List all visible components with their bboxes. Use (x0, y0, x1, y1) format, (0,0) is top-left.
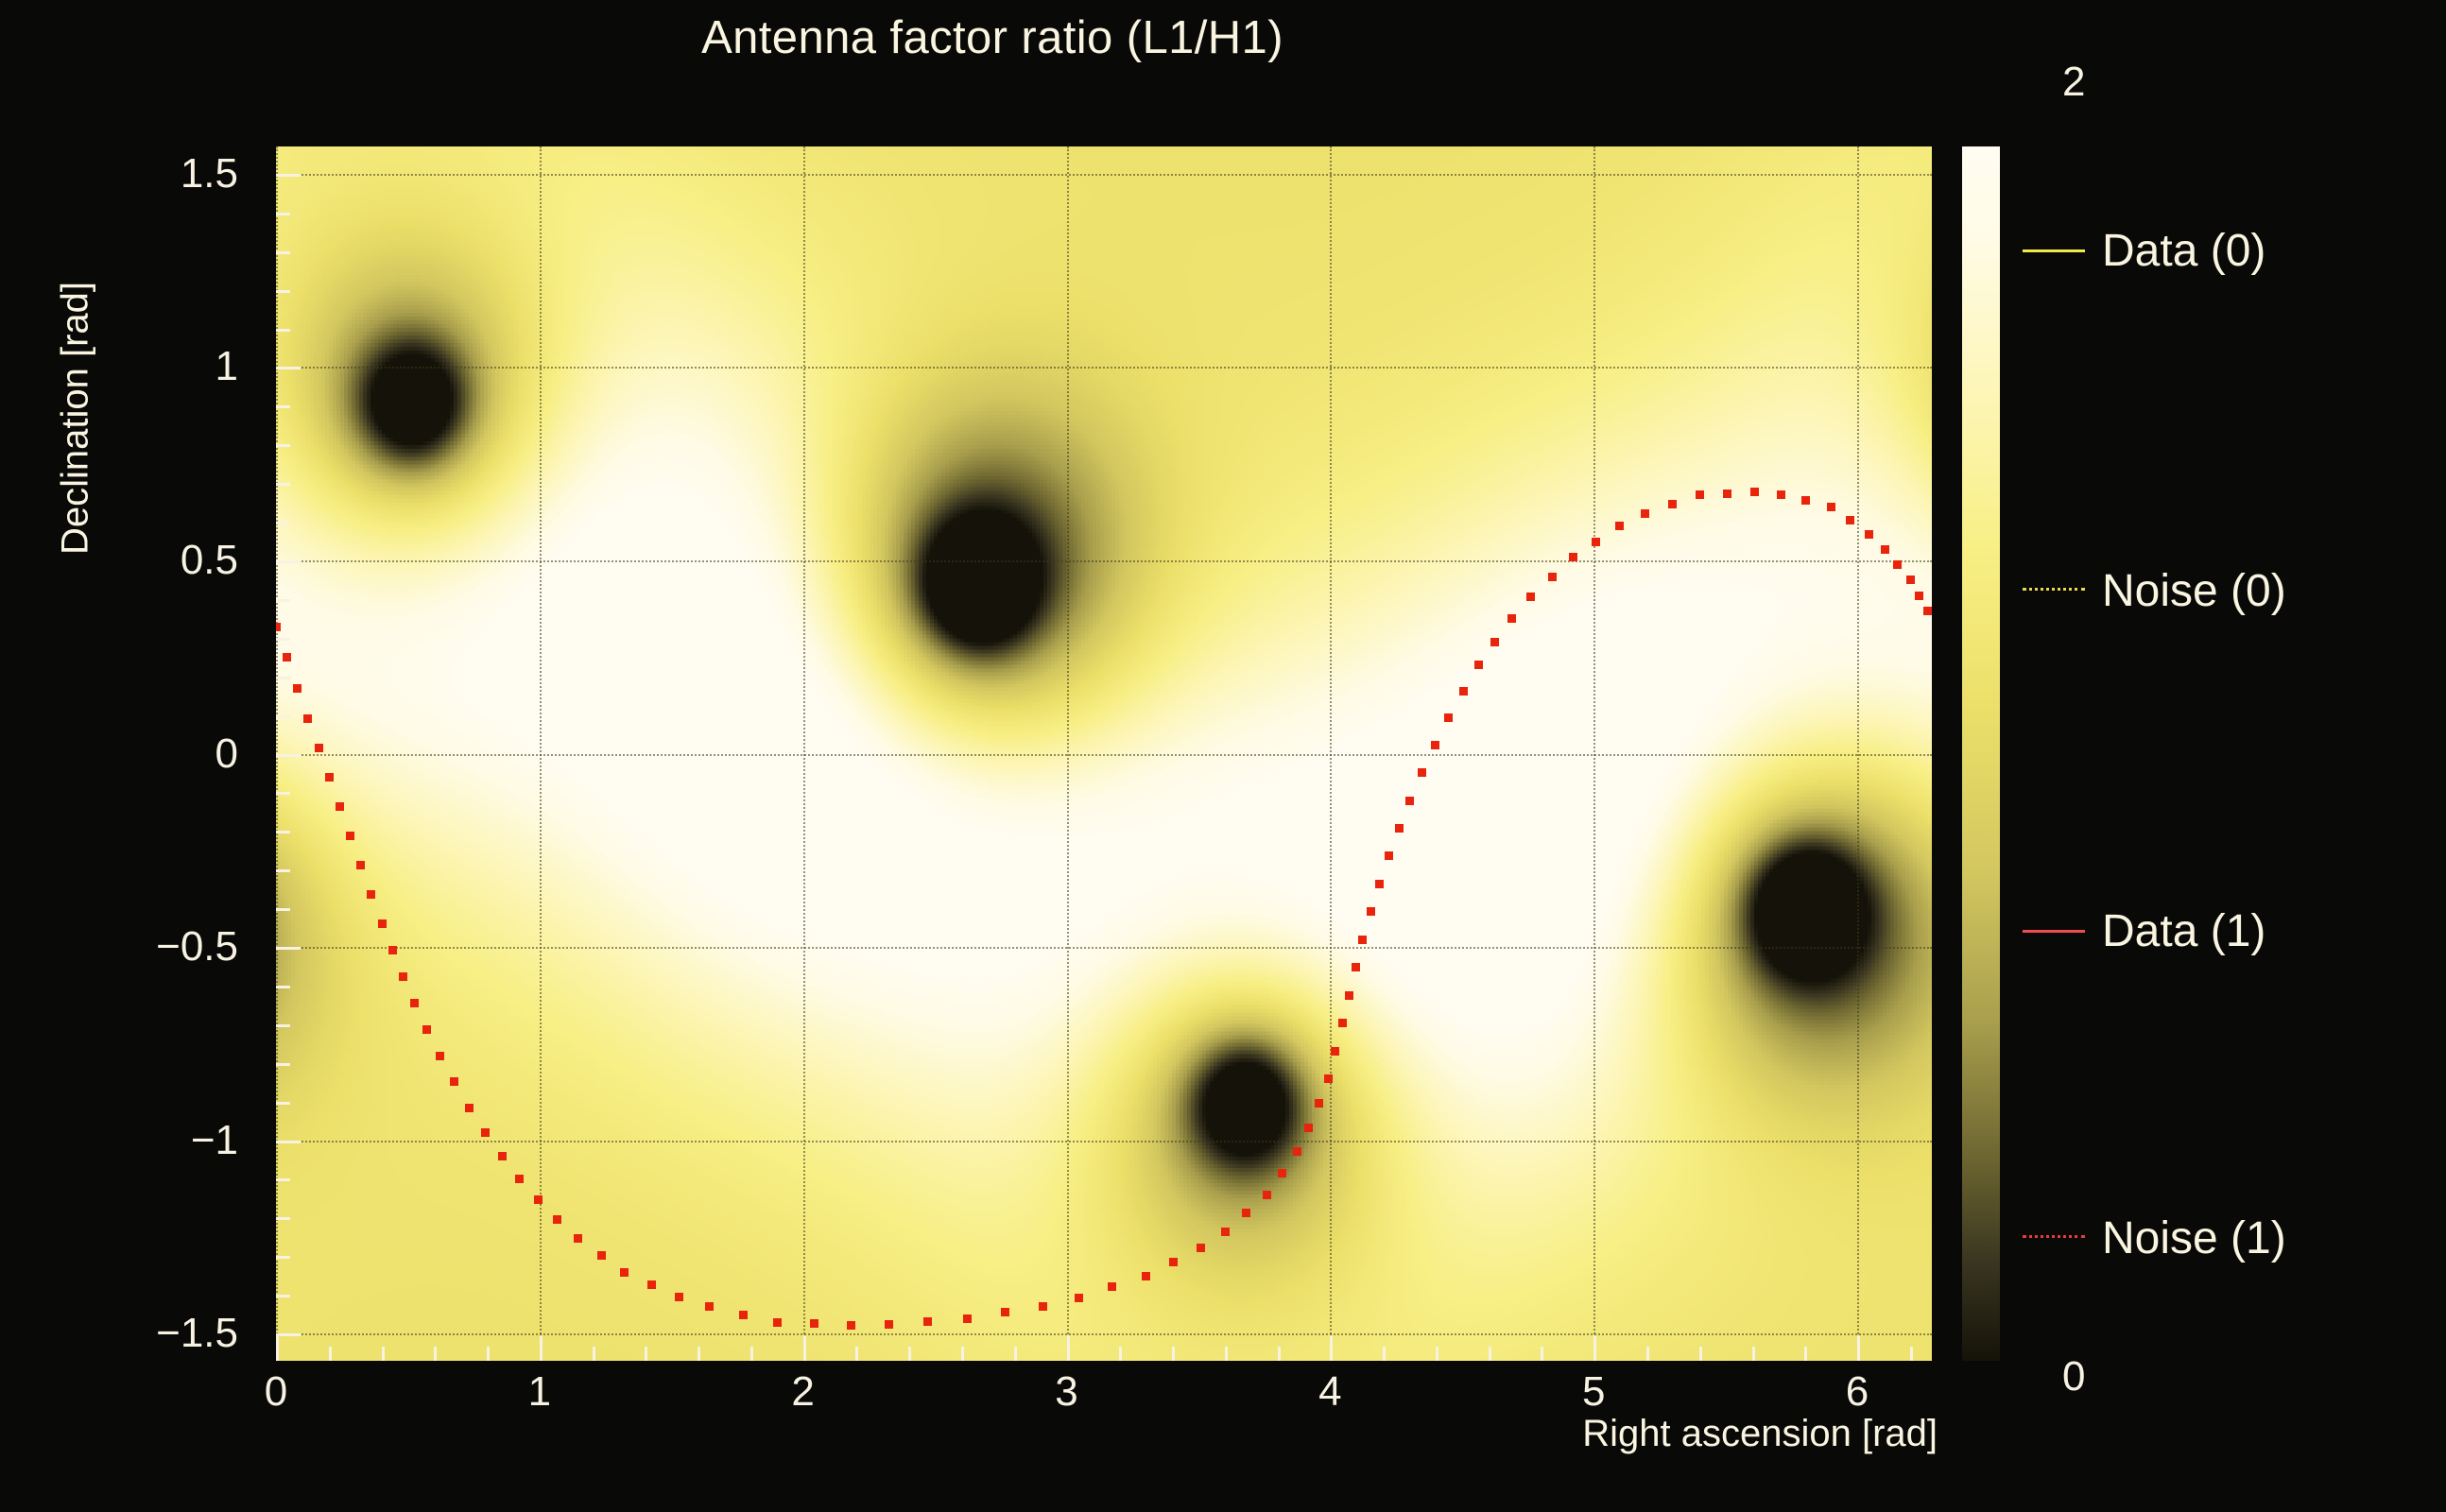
x-tick-minor (1541, 1347, 1543, 1361)
curve-marker (1750, 488, 1759, 496)
curve-marker (1395, 824, 1404, 833)
y-tick-minor (276, 792, 290, 795)
legend-line-swatch (2023, 249, 2085, 252)
y-tick-minor (276, 290, 290, 293)
y-tick-major (276, 367, 301, 369)
curve-marker (847, 1321, 855, 1330)
x-tick-minor (908, 1347, 911, 1361)
curve-marker (450, 1077, 458, 1086)
x-tick-minor (1646, 1347, 1649, 1361)
curve-marker (1278, 1169, 1286, 1177)
legend-item-label: Data (1) (2102, 905, 2265, 957)
y-tick-minor (276, 329, 290, 332)
x-tick-minor (1278, 1347, 1281, 1361)
curve-marker (1592, 538, 1600, 546)
curve-marker (1893, 560, 1902, 569)
curve-marker (1039, 1302, 1047, 1311)
curve-marker (1507, 614, 1516, 623)
x-tick-label: 5 (1582, 1368, 1605, 1416)
y-tick-label: −0.5 (156, 923, 238, 971)
curve-marker (773, 1318, 782, 1327)
x-tick-major (1067, 1336, 1070, 1361)
curve-marker (388, 946, 397, 954)
y-axis-tick-labels: 1.510.50−0.5−1−1.5 (0, 146, 255, 1361)
x-tick-minor (1119, 1347, 1122, 1361)
x-tick-minor (855, 1347, 858, 1361)
y-tick-minor (276, 1295, 290, 1297)
curve-marker (1881, 545, 1889, 554)
y-tick-minor (276, 638, 290, 641)
curve-marker (1263, 1191, 1271, 1199)
x-tick-major (276, 1336, 279, 1361)
legend-item[interactable]: Noise (0) (2023, 558, 2438, 624)
curve-marker (346, 832, 354, 840)
curve-marker (1801, 496, 1810, 505)
curve-marker (553, 1215, 561, 1224)
heatmap-image (276, 146, 1932, 1361)
curve-marker (315, 744, 323, 752)
x-tick-minor (698, 1347, 700, 1361)
x-tick-major (1330, 1336, 1333, 1361)
curve-marker (963, 1314, 972, 1323)
x-tick-minor (593, 1347, 595, 1361)
curve-marker (336, 802, 344, 811)
x-tick-minor (1436, 1347, 1438, 1361)
x-tick-minor (1489, 1347, 1491, 1361)
x-tick-minor (750, 1347, 753, 1361)
x-tick-label: 2 (791, 1368, 814, 1416)
x-tick-minor (1804, 1347, 1807, 1361)
y-tick-minor (276, 869, 290, 872)
x-tick-major (540, 1336, 543, 1361)
x-tick-minor (329, 1347, 332, 1361)
curve-marker (1345, 991, 1353, 1000)
x-tick-minor (487, 1347, 490, 1361)
y-tick-label: 1 (215, 343, 238, 390)
legend-line-swatch (2023, 1235, 2085, 1242)
x-tick-label: 4 (1318, 1368, 1341, 1416)
y-tick-label: 0.5 (181, 537, 238, 584)
y-tick-label: 0 (215, 730, 238, 778)
x-tick-major (1857, 1336, 1860, 1361)
y-tick-minor (276, 1217, 290, 1220)
y-tick-minor (276, 831, 290, 833)
curve-marker (1865, 530, 1873, 539)
y-tick-minor (276, 522, 290, 524)
curve-marker (1001, 1308, 1009, 1316)
x-tick-minor (1383, 1347, 1386, 1361)
y-tick-label: 1.5 (181, 150, 238, 198)
y-tick-minor (276, 405, 290, 408)
legend-item[interactable]: Data (1) (2023, 898, 2438, 964)
x-tick-label: 0 (265, 1368, 287, 1416)
x-tick-minor (434, 1347, 437, 1361)
y-tick-minor (276, 908, 290, 911)
curve-marker (1293, 1147, 1301, 1156)
curve-marker (367, 890, 375, 899)
curve-marker (1915, 592, 1923, 600)
x-tick-minor (645, 1347, 647, 1361)
curve-marker (283, 653, 291, 661)
curve-marker (885, 1320, 893, 1329)
curve-marker (1367, 907, 1375, 916)
curve-marker (1324, 1074, 1333, 1083)
curve-marker (325, 773, 334, 782)
x-axis-tick-labels: 0123456 (276, 1368, 1932, 1425)
curve-marker (465, 1104, 474, 1112)
x-tick-label: 1 (528, 1368, 551, 1416)
curve-marker (1169, 1258, 1178, 1266)
x-tick-minor (961, 1347, 964, 1361)
legend-line-swatch (2023, 588, 2085, 594)
legend-item[interactable]: Data (0) (2023, 217, 2438, 283)
y-tick-major (276, 947, 301, 950)
y-tick-major (276, 754, 301, 757)
x-tick-label: 6 (1846, 1368, 1869, 1416)
chart-title: Antenna factor ratio (L1/H1) (0, 11, 1985, 64)
legend-item-label: Data (0) (2102, 225, 2265, 277)
curve-marker (410, 999, 419, 1007)
curve-marker (597, 1251, 606, 1260)
y-tick-minor (276, 986, 290, 988)
y-tick-major (276, 1141, 301, 1143)
y-tick-major (276, 1333, 301, 1336)
y-tick-minor (276, 1024, 290, 1027)
curve-marker (1906, 576, 1915, 584)
heatmap-plot-area[interactable] (276, 146, 1932, 1361)
curve-marker (1641, 509, 1649, 518)
curve-marker (620, 1268, 629, 1277)
curve-marker (1490, 638, 1499, 646)
legend-line-swatch (2023, 930, 2085, 933)
x-tick-label: 3 (1055, 1368, 1077, 1416)
curve-marker (1221, 1228, 1230, 1236)
curve-marker (534, 1195, 543, 1204)
curve-marker (436, 1052, 444, 1060)
curve-marker (1405, 797, 1414, 805)
x-tick-minor (1910, 1347, 1913, 1361)
curve-marker (1923, 607, 1932, 615)
curve-marker (276, 623, 281, 631)
curve-marker (498, 1152, 507, 1160)
curve-marker (923, 1317, 932, 1326)
y-tick-minor (276, 483, 290, 486)
legend: Data (0)Noise (0)Data (1)Noise (1) (2023, 217, 2438, 1276)
curve-marker (1418, 768, 1426, 777)
curve-marker (739, 1311, 748, 1319)
y-tick-minor (276, 677, 290, 679)
curve-marker (810, 1319, 818, 1328)
curve-marker (356, 861, 365, 869)
y-tick-major (276, 560, 301, 563)
legend-item-label: Noise (1) (2102, 1212, 2286, 1264)
y-tick-minor (276, 599, 290, 602)
x-tick-minor (1014, 1347, 1017, 1361)
x-tick-major (1593, 1336, 1596, 1361)
curve-marker (1668, 500, 1677, 508)
y-tick-minor (276, 213, 290, 215)
curve-marker (1197, 1244, 1205, 1252)
colorbar-min-label: 0 (2062, 1353, 2085, 1400)
y-tick-minor (276, 1063, 290, 1066)
y-tick-minor (276, 1178, 290, 1181)
curve-marker (293, 684, 301, 693)
curve-marker (1569, 553, 1577, 561)
curve-marker (705, 1302, 714, 1311)
curve-marker (1352, 963, 1360, 971)
y-tick-minor (276, 715, 290, 718)
legend-item[interactable]: Noise (1) (2023, 1205, 2438, 1271)
x-tick-minor (382, 1347, 385, 1361)
curve-marker (1615, 522, 1624, 530)
curve-marker (1338, 1019, 1347, 1027)
y-tick-label: −1.5 (156, 1310, 238, 1357)
curve-marker (1331, 1047, 1339, 1056)
curve-marker (647, 1280, 656, 1289)
curve-marker (574, 1234, 582, 1243)
curve-marker (1242, 1209, 1250, 1217)
x-tick-minor (1172, 1347, 1175, 1361)
y-tick-minor (276, 444, 290, 447)
curve-marker (1304, 1124, 1313, 1132)
colorbar-max-label: 2 (2062, 59, 2085, 106)
curve-marker (1444, 713, 1453, 722)
curve-marker (481, 1128, 490, 1137)
curve-marker (1459, 687, 1468, 696)
y-tick-minor (276, 1102, 290, 1105)
curve-marker (1075, 1294, 1083, 1302)
curve-marker (303, 714, 312, 723)
curve-marker (1142, 1272, 1150, 1280)
y-tick-major (276, 174, 301, 177)
curve-marker (1375, 880, 1384, 888)
curve-marker (1827, 503, 1835, 511)
curve-marker (1723, 490, 1731, 498)
y-tick-minor (276, 251, 290, 254)
y-tick-minor (276, 1256, 290, 1259)
curve-marker (1696, 490, 1704, 499)
curve-marker (1777, 490, 1785, 499)
curve-marker (1108, 1282, 1116, 1291)
curve-marker (675, 1293, 683, 1301)
curve-marker (1548, 573, 1557, 581)
curve-marker (1846, 516, 1854, 524)
x-tick-minor (1752, 1347, 1755, 1361)
curve-marker (1431, 741, 1439, 749)
curve-marker (1358, 936, 1367, 944)
curve-marker (1315, 1099, 1323, 1108)
curve-marker (378, 919, 387, 928)
legend-item-label: Noise (0) (2102, 565, 2286, 617)
x-tick-minor (1699, 1347, 1702, 1361)
curve-marker (1526, 593, 1535, 601)
curve-marker (1385, 851, 1393, 860)
curve-marker (515, 1175, 524, 1183)
x-tick-major (803, 1336, 806, 1361)
curve-marker (422, 1025, 431, 1034)
curve-marker (1474, 661, 1483, 669)
y-tick-label: −1 (191, 1117, 238, 1164)
curve-marker (399, 972, 407, 981)
color-scale-bar (1962, 146, 2000, 1361)
x-tick-minor (1225, 1347, 1228, 1361)
chart-canvas: Antenna factor ratio (L1/H1) Declination… (0, 0, 2446, 1512)
